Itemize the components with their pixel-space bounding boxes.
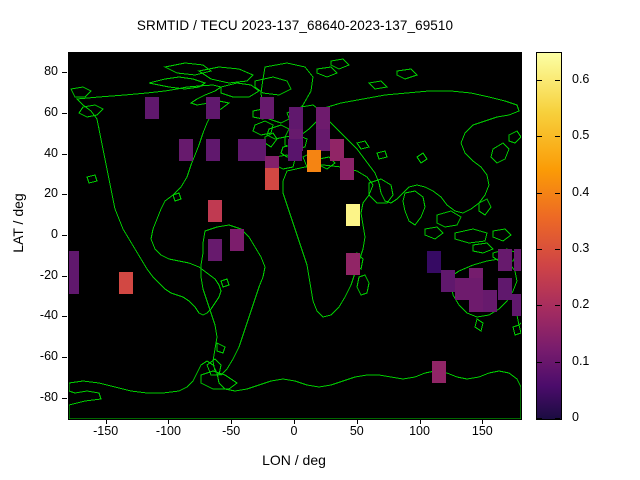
y-tick-mark [62, 357, 67, 358]
data-cell [238, 139, 252, 161]
data-cell [119, 272, 133, 294]
data-cell [206, 139, 220, 161]
y-tick-label: 60 [0, 105, 58, 119]
y-tick-label: 40 [0, 146, 58, 160]
x-axis-title: LON / deg [68, 452, 520, 468]
colorbar-tick-mark [537, 362, 542, 363]
colorbar-tick-mark [555, 418, 560, 419]
data-cell [514, 249, 522, 271]
page-title: SRMTID / TECU 2023-137_68640-2023-137_69… [0, 18, 590, 33]
y-tick-label: 80 [0, 64, 58, 78]
data-cells-layer [69, 53, 521, 419]
y-axis-title: LAT / deg [10, 163, 26, 283]
y-tick-mark [62, 276, 67, 277]
y-tick-label: 0 [0, 227, 58, 241]
colorbar-tick-mark [555, 80, 560, 81]
colorbar-tick-mark [537, 136, 542, 137]
data-cell [260, 97, 274, 119]
y-tick-mark [62, 316, 67, 317]
colorbar-tick-label: 0.4 [572, 185, 589, 199]
colorbar-tick-mark [555, 362, 560, 363]
y-tick-mark [62, 72, 67, 73]
y-tick-mark [62, 154, 67, 155]
colorbar-tick-mark [555, 249, 560, 250]
data-cell [289, 107, 303, 129]
data-cell [206, 97, 220, 119]
data-cell [498, 249, 512, 271]
data-cell [340, 158, 354, 180]
x-tick-label: -50 [201, 424, 261, 438]
data-cell [441, 270, 455, 292]
colorbar-tick-mark [537, 305, 542, 306]
data-cell [288, 139, 302, 161]
y-tick-label: -20 [0, 268, 58, 282]
colorbar-tick-label: 0.5 [572, 128, 589, 142]
data-cell [68, 251, 79, 273]
data-cell [346, 253, 360, 275]
data-cell [179, 139, 193, 161]
y-tick-mark [62, 235, 67, 236]
y-tick-mark [62, 194, 67, 195]
colorbar-tick-mark [537, 80, 542, 81]
data-cell [208, 200, 222, 222]
colorbar-tick-mark [555, 193, 560, 194]
data-cell [316, 107, 330, 129]
x-tick-label: 0 [264, 424, 324, 438]
colorbar-tick-label: 0.6 [572, 72, 589, 86]
x-tick-label: -150 [76, 424, 136, 438]
data-cell [432, 361, 446, 383]
data-cell [307, 150, 321, 172]
x-tick-label: -100 [138, 424, 198, 438]
y-tick-label: -60 [0, 349, 58, 363]
colorbar-tick-mark [555, 136, 560, 137]
data-cell [427, 251, 441, 273]
y-tick-label: -40 [0, 308, 58, 322]
colorbar-tick-mark [537, 193, 542, 194]
y-tick-label: -80 [0, 390, 58, 404]
colorbar-tick-mark [537, 418, 542, 419]
y-tick-mark [62, 398, 67, 399]
data-cell [68, 272, 79, 294]
colorbar[interactable] [536, 52, 562, 420]
figure-canvas: SRMTID / TECU 2023-137_68640-2023-137_69… [0, 0, 640, 480]
data-cell [208, 239, 222, 261]
data-cell [230, 229, 244, 251]
data-cell [455, 278, 469, 300]
colorbar-tick-label: 0.1 [572, 354, 589, 368]
colorbar-tick-mark [537, 249, 542, 250]
colorbar-tick-label: 0.3 [572, 241, 589, 255]
x-tick-label: 50 [327, 424, 387, 438]
data-cell [512, 294, 522, 316]
colorbar-tick-mark [555, 305, 560, 306]
data-cell [498, 278, 512, 300]
data-cell [469, 290, 483, 312]
x-tick-label: 100 [390, 424, 450, 438]
colorbar-tick-label: 0.2 [572, 297, 589, 311]
colorbar-tick-label: 0 [572, 410, 579, 424]
x-tick-label: 150 [452, 424, 512, 438]
y-tick-label: 20 [0, 186, 58, 200]
map-plot-area[interactable] [68, 52, 522, 420]
data-cell [346, 204, 360, 226]
data-cell [483, 290, 497, 312]
data-cell [252, 139, 266, 161]
y-tick-mark [62, 113, 67, 114]
data-cell [145, 97, 159, 119]
data-cell [316, 129, 330, 151]
data-cell [265, 168, 279, 190]
